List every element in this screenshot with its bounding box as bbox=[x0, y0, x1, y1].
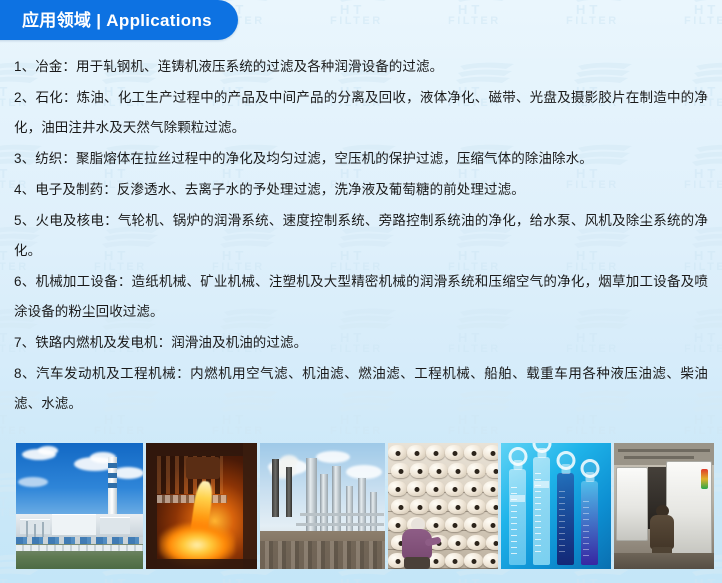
yarn-spool bbox=[410, 463, 429, 478]
page-title: 应用领域 | Applications bbox=[22, 12, 212, 29]
yarn-spool bbox=[467, 499, 486, 514]
yarn-spool bbox=[448, 463, 467, 478]
power-plant-photo bbox=[16, 443, 143, 569]
section-title-badge: 应用领域 | Applications bbox=[0, 0, 238, 40]
watermark-line1: HT bbox=[576, 576, 601, 583]
watermark-line2: FILTER bbox=[684, 425, 722, 437]
yarn-spool bbox=[483, 553, 498, 568]
yarn-spool bbox=[448, 535, 467, 550]
watermark-line1: HT bbox=[222, 576, 247, 583]
yarn-spool bbox=[486, 463, 498, 478]
yarn-spool bbox=[464, 481, 483, 496]
application-item-5: 5、火电及核电：气轮机、锅炉的润滑系统、速度控制系统、旁路控制系统油的净化，给水… bbox=[14, 206, 708, 266]
yarn-spool bbox=[445, 481, 464, 496]
yarn-spool bbox=[407, 445, 426, 460]
yarn-spool bbox=[391, 499, 410, 514]
yarn-spool bbox=[467, 535, 486, 550]
yarn-spool bbox=[483, 445, 498, 460]
yarn-spool bbox=[464, 517, 483, 532]
watermark-line1: HT bbox=[694, 576, 719, 583]
application-item-6: 6、机械加工设备：造纸机械、矿业机械、注塑机及大型精密机械的润滑系统和压缩空气的… bbox=[14, 267, 708, 327]
yarn-spool bbox=[486, 535, 498, 550]
yarn-spool bbox=[483, 481, 498, 496]
watermark-line1: HT bbox=[0, 576, 11, 583]
yarn-spool bbox=[448, 499, 467, 514]
watermark-line2: FILTER bbox=[212, 425, 265, 437]
watermark-line1: HT bbox=[458, 576, 483, 583]
yarn-spool bbox=[407, 481, 426, 496]
applications-list: 1、冶金：用于轧钢机、连铸机液压系统的过滤及各种润滑设备的过滤。 2、石化：炼油… bbox=[0, 52, 722, 420]
page-header: 应用领域 | Applications bbox=[0, 0, 722, 48]
yarn-spool bbox=[445, 553, 464, 568]
yarn-spool bbox=[445, 445, 464, 460]
yarn-spool bbox=[410, 499, 429, 514]
watermark-line2: FILTER bbox=[566, 425, 619, 437]
application-item-3: 3、纺织：聚脂熔体在拉丝过程中的净化及均匀过滤，空压机的保护过滤，压缩气体的除油… bbox=[14, 144, 708, 174]
watermark-line1: HT bbox=[340, 576, 365, 583]
yarn-spool bbox=[464, 553, 483, 568]
watermark-line1: HT bbox=[0, 494, 11, 509]
application-item-7: 7、铁路内燃机及发电机：润滑油及机油的过滤。 bbox=[14, 328, 708, 358]
steel-mill-photo bbox=[146, 443, 257, 569]
refinery-photo bbox=[260, 443, 385, 569]
yarn-spool bbox=[483, 517, 498, 532]
watermark-line2: FILTER bbox=[94, 425, 147, 437]
application-item-4: 4、电子及制药：反渗透水、去离子水的予处理过滤，洗净液及葡萄糖的前处理过滤。 bbox=[14, 175, 708, 205]
yarn-spool bbox=[429, 463, 448, 478]
yarn-spool bbox=[467, 463, 486, 478]
yarn-spool bbox=[426, 445, 445, 460]
application-image-gallery bbox=[16, 443, 706, 569]
yarn-spool bbox=[388, 481, 407, 496]
laboratory-photo bbox=[501, 443, 611, 569]
watermark-line2: FILTER bbox=[448, 425, 501, 437]
textile-mill-photo bbox=[388, 443, 498, 569]
watermark-line1: HT bbox=[104, 576, 129, 583]
application-item-8: 8、汽车发动机及工程机械：内燃机用空气滤、机油滤、燃油滤、工程机械、船舶、载重车… bbox=[14, 359, 708, 419]
yarn-spool bbox=[388, 445, 407, 460]
application-item-2: 2、石化：炼油、化工生产过程中的产品及中间产品的分离及回收，液体净化、磁带、光盘… bbox=[14, 83, 708, 143]
yarn-spool bbox=[445, 517, 464, 532]
yarn-spool bbox=[391, 463, 410, 478]
application-item-1: 1、冶金：用于轧钢机、连铸机液压系统的过滤及各种润滑设备的过滤。 bbox=[14, 52, 708, 82]
yarn-spool bbox=[426, 481, 445, 496]
watermark-line2: FILTER bbox=[0, 425, 29, 437]
yarn-spool bbox=[429, 499, 448, 514]
watermark-line2: FILTER bbox=[330, 425, 383, 437]
yarn-spool bbox=[464, 445, 483, 460]
yarn-spool bbox=[486, 499, 498, 514]
machining-shop-photo bbox=[614, 443, 714, 569]
